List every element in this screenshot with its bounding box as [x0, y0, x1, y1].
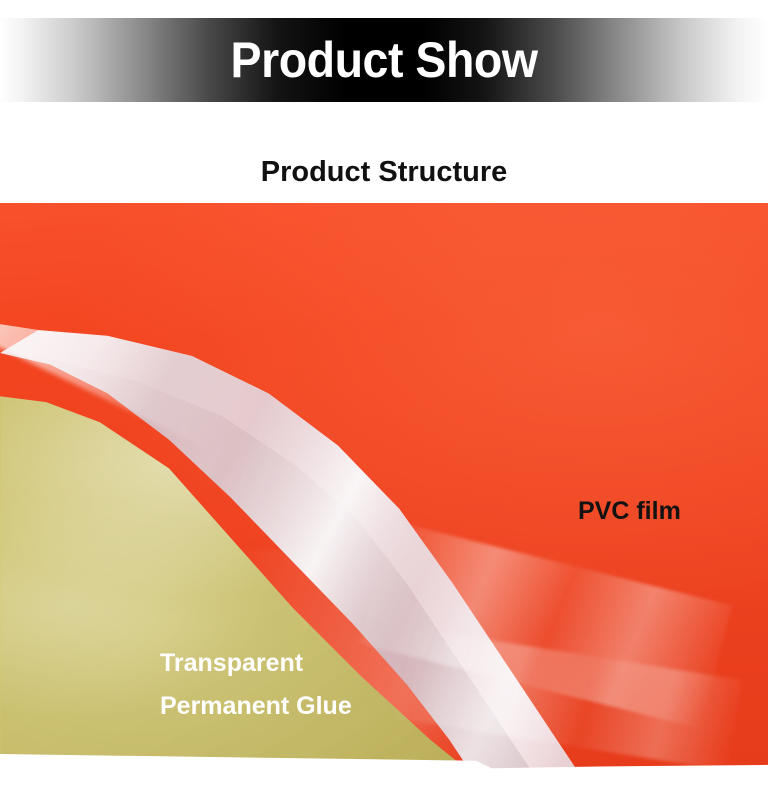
- label-pvc-film: PVC film: [578, 499, 681, 524]
- label-pvc-film-text: PVC film: [578, 499, 681, 524]
- product-structure-photo: PVC film Transparent Permanent Glue Sili…: [0, 203, 768, 780]
- banner-title: Product Show: [230, 35, 537, 85]
- label-glue-line2: Permanent Glue: [160, 694, 352, 719]
- header-banner: Product Show: [0, 18, 768, 102]
- label-glue-line1: Transparent: [160, 651, 352, 676]
- label-transparent-permanent-glue: Transparent Permanent Glue: [160, 651, 352, 719]
- section-subtitle: Product Structure: [0, 158, 768, 187]
- product-show-page: Product Show Product Structure PVC film …: [0, 0, 768, 802]
